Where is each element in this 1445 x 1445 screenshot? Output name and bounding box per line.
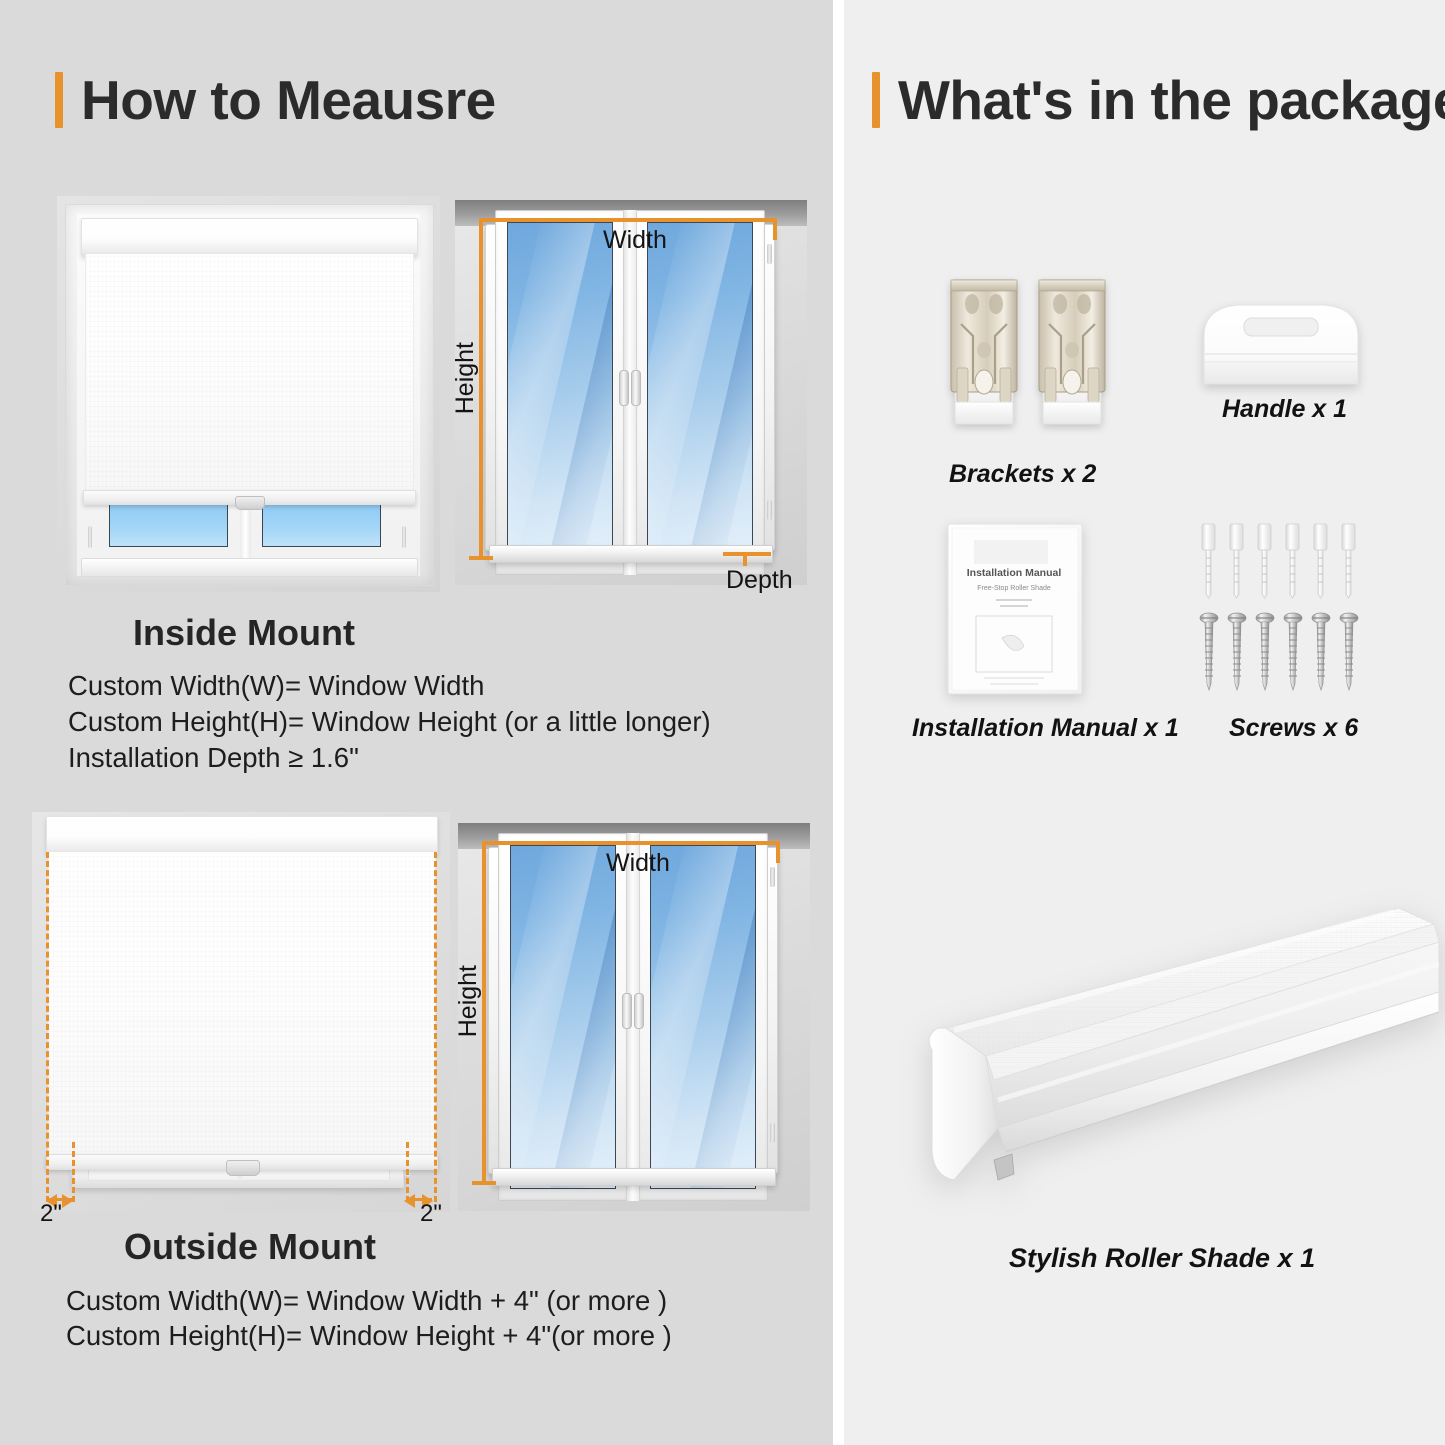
shade-fabric [85,254,414,492]
how-to-measure-title: How to Meausre [81,73,496,128]
left-panel: How to Meausre [0,0,833,1445]
inside-mount-line-1: Custom Width(W)= Window Width [68,670,484,702]
screw-icon [1196,520,1376,696]
handle-label: Handle x 1 [1222,395,1347,424]
brackets-label: Brackets x 2 [949,460,1096,489]
right-panel: What's in the package [844,0,1445,1445]
manual-label: Installation Manual x 1 [912,714,1179,743]
outside-mount-line-2: Custom Height(H)= Window Height + 4"(or … [66,1320,672,1352]
width-label: Width [606,849,670,878]
outside-mount-line-1: Custom Width(W)= Window Width + 4" (or m… [66,1285,667,1317]
roller-shade-icon [894,880,1439,1210]
depth-label: Depth [726,566,793,595]
svg-text:Installation Manual: Installation Manual [967,567,1062,579]
manual-icon: Installation Manual Free-Stop Roller Sha… [940,520,1088,698]
roller-shade-label: Stylish Roller Shade x 1 [1009,1243,1315,1274]
outside-mount-shade-illustration [32,812,450,1212]
height-label: Height [451,342,480,414]
height-label: Height [454,965,483,1037]
inside-mount-shade-illustration [57,196,440,592]
accent-bar-icon [872,72,880,128]
inside-mount-title: Inside Mount [133,612,355,654]
right-panel-heading: What's in the package [872,72,1445,128]
shade-pull-handle[interactable] [235,496,265,510]
accent-bar-icon [55,72,63,128]
panel-divider [833,0,844,1445]
width-label: Width [603,226,667,255]
inside-mount-window-diagram: Width Height Depth [455,200,807,585]
screws-label: Screws x 6 [1229,714,1358,743]
handle-icon [1196,296,1366,388]
overhang-guide-right [434,852,437,1202]
infographic-page: How to Meausre [0,0,1445,1445]
outside-mount-window-diagram: Width Height [458,823,810,1211]
shade-fabric [48,852,436,1157]
inside-mount-line-3: Installation Depth ≥ 1.6" [68,742,359,774]
overhang-label-left: 2" [40,1200,62,1228]
whats-in-package-title: What's in the package [898,73,1445,128]
shade-cassette [81,218,418,256]
left-panel-heading: How to Meausre [55,72,496,128]
bracket-icon [939,272,1119,442]
overhang-label-right: 2" [420,1200,442,1228]
inside-mount-line-2: Custom Height(H)= Window Height (or a li… [68,706,711,738]
shade-pull-handle[interactable] [226,1160,260,1176]
shade-cassette [46,816,438,854]
outside-mount-title: Outside Mount [124,1226,376,1268]
svg-text:Free-Stop Roller Shade: Free-Stop Roller Shade [977,585,1051,592]
overhang-guide-left [46,852,49,1202]
window-glass-left [109,502,228,547]
window-glass-right [262,502,381,547]
